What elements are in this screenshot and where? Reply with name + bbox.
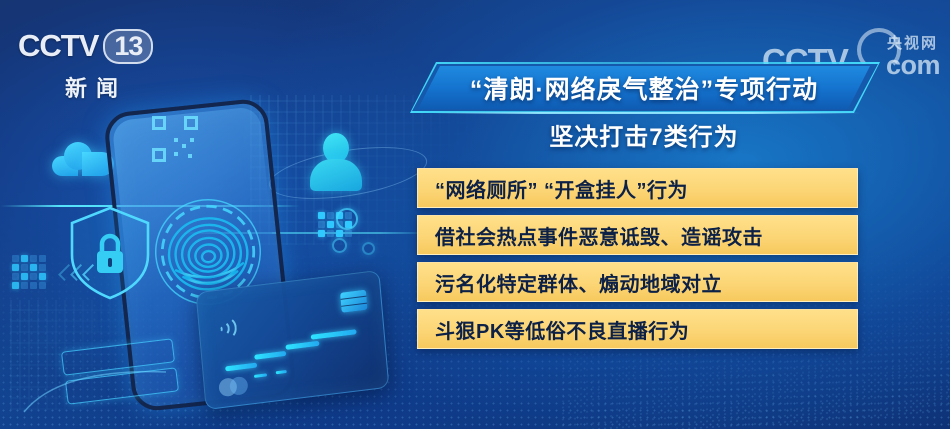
watermark-domain-text: com <box>886 50 940 81</box>
cloud-icon <box>52 140 114 178</box>
bank-card-icon <box>196 270 390 410</box>
list-item-label: “网络厕所” “开盒挂人”行为 <box>435 174 688 203</box>
cctv-logo-number: 13 <box>103 29 153 64</box>
qr-code-icon <box>152 116 198 162</box>
network-node-2 <box>332 238 347 253</box>
swoosh-curve <box>20 360 170 420</box>
broadcast-graphic: CCTV 13 新闻 CCTV 央视网 com “清朗·网络戾气整治”专项行动 … <box>0 0 950 429</box>
network-node-1 <box>336 208 358 230</box>
card-chip-icon <box>340 290 368 313</box>
contactless-icon <box>215 315 239 344</box>
shield-lock-icon <box>68 205 152 301</box>
cctv-logo-mark: CCTV 13 <box>18 28 168 64</box>
list-item: “网络厕所” “开盒挂人”行为 <box>417 168 858 208</box>
network-node-3 <box>362 242 375 255</box>
list-item: 斗狠PK等低俗不良直播行为 <box>417 309 858 349</box>
headline-title: “清朗·网络戾气整治”专项行动 <box>470 70 818 106</box>
user-avatar-icon <box>310 133 362 191</box>
list-item-label: 斗狠PK等低俗不良直播行为 <box>435 315 689 344</box>
cctv-logo-subtitle: 新闻 <box>18 71 168 103</box>
banner-underline <box>432 112 860 114</box>
cctv-logo-text: CCTV <box>18 28 98 64</box>
headline-subtitle: 坚决打击7类行为 <box>418 117 870 152</box>
cctv13-logo: CCTV 13 新闻 <box>18 28 168 110</box>
list-item-label: 污名化特定群体、煽动地域对立 <box>435 268 722 297</box>
list-item-label: 借社会热点事件恶意诋毁、造谣攻击 <box>435 221 763 250</box>
pixel-block-left <box>12 255 46 289</box>
list-item: 借社会热点事件恶意诋毁、造谣攻击 <box>417 215 858 255</box>
violation-list: “网络厕所” “开盒挂人”行为 借社会热点事件恶意诋毁、造谣攻击 污名化特定群体… <box>417 168 858 356</box>
avatar-body <box>310 159 362 191</box>
list-item: 污名化特定群体、煽动地域对立 <box>417 262 858 302</box>
card-brand-logo <box>218 375 253 397</box>
chevron-arrows-icon <box>62 265 106 281</box>
headline-banner: “清朗·网络戾气整治”专项行动 <box>418 66 870 109</box>
